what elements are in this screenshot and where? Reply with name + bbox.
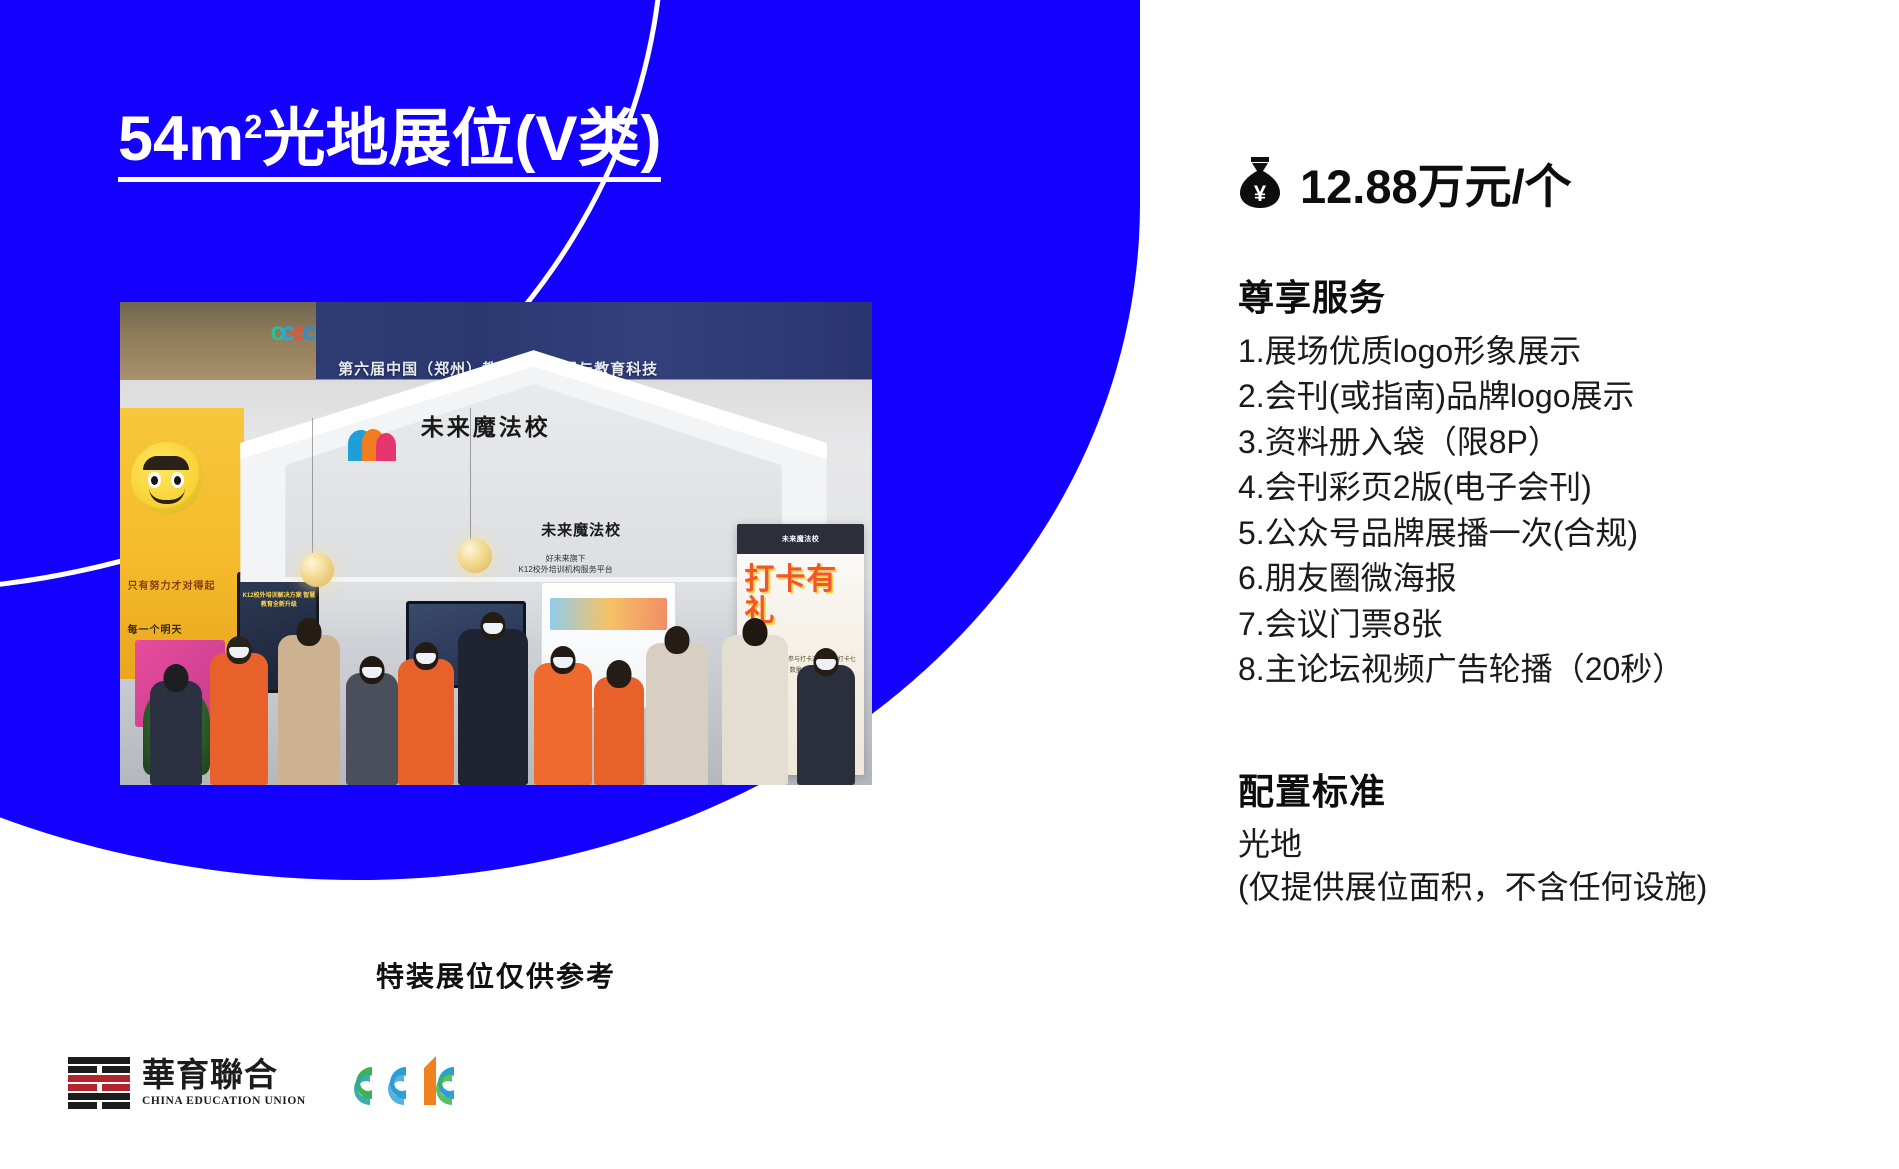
hall-banner-ccec-logo: ccec bbox=[270, 316, 312, 347]
future-magic-school-logo-icon bbox=[346, 428, 398, 462]
bee-mascot-icon bbox=[131, 442, 203, 514]
lantern-cord bbox=[470, 408, 471, 538]
visitor bbox=[278, 635, 340, 785]
page-title-wrap: 54m2光地展位(V类) bbox=[118, 104, 661, 182]
photo-caption: 特装展位仅供参考 bbox=[120, 955, 872, 995]
services-heading: 尊享服务 bbox=[1238, 269, 1858, 321]
config-block: 配置标准 光地 (仅提供展位面积，不含任何设施) bbox=[1238, 763, 1858, 909]
ceu-trigram-mark-icon bbox=[68, 1057, 130, 1109]
booth-photo-image: ccec 第六届中国（郑州）教育项目加盟与教育科技 只有努力才对得起 每一个明天… bbox=[120, 302, 872, 785]
visitor bbox=[646, 643, 708, 785]
config-line: (仅提供展位面积，不含任何设施) bbox=[1238, 866, 1858, 909]
booth-brand-name: 未来魔法校 bbox=[421, 408, 551, 442]
visitor bbox=[458, 629, 528, 785]
visitor bbox=[398, 659, 454, 785]
config-line: 光地 bbox=[1238, 823, 1858, 866]
service-item: 8.主论坛视频广告轮播（20秒） bbox=[1238, 647, 1858, 692]
ceu-logo-chinese: 華育聯合 bbox=[142, 1060, 306, 1093]
slide-root: 54m2光地展位(V类) ccec 第六届中国（郑州）教育项目加盟与教育科技 只… bbox=[0, 0, 1899, 1169]
footer-logos: 華育聯合 CHINA EDUCATION UNION bbox=[68, 1052, 478, 1114]
page-title: 54m2光地展位(V类) bbox=[118, 104, 661, 175]
service-item: 3.资料册入袋（限8P） bbox=[1238, 420, 1858, 465]
visitor bbox=[150, 681, 202, 785]
title-unit-superscript: 2 bbox=[244, 108, 262, 145]
service-item: 7.会议门票8张 bbox=[1238, 602, 1858, 647]
service-item: 6.朋友圈微海报 bbox=[1238, 556, 1858, 601]
title-unit: m bbox=[188, 104, 244, 174]
china-education-union-logo: 華育聯合 CHINA EDUCATION UNION bbox=[68, 1057, 306, 1109]
poster-header-text: 未来魔法校 bbox=[737, 524, 865, 554]
visitor bbox=[210, 653, 268, 785]
visitor bbox=[722, 635, 788, 785]
title-rest: 光地展位(V类) bbox=[262, 104, 661, 174]
right-content-column: ¥ 12.88万元/个 尊享服务 1.展场优质logo形象展示 2.会刊(或指南… bbox=[1238, 148, 1858, 909]
services-list: 1.展场优质logo形象展示 2.会刊(或指南)品牌logo展示 3.资料册入袋… bbox=[1238, 329, 1858, 693]
price-amount: 12.88万元/个 bbox=[1300, 148, 1572, 217]
visitor bbox=[594, 677, 644, 785]
visitor bbox=[346, 673, 398, 785]
service-item: 5.公众号品牌展播一次(合规) bbox=[1238, 511, 1858, 556]
title-underline bbox=[118, 177, 661, 182]
price-row: ¥ 12.88万元/个 bbox=[1238, 148, 1858, 217]
booth-tagline: 好未来旗下K12校外培训机构服务平台 bbox=[519, 553, 613, 575]
booth-brand-name-secondary: 未来魔法校 bbox=[541, 519, 621, 540]
lantern-cord bbox=[312, 418, 313, 553]
service-item: 1.展场优质logo形象展示 bbox=[1238, 329, 1858, 374]
money-bag-icon: ¥ bbox=[1238, 157, 1282, 209]
svg-text:¥: ¥ bbox=[1254, 181, 1267, 206]
ceu-logo-text: 華育聯合 CHINA EDUCATION UNION bbox=[142, 1060, 306, 1107]
ceu-logo-english: CHINA EDUCATION UNION bbox=[142, 1095, 306, 1107]
visitor bbox=[797, 665, 855, 785]
crowd-of-visitors bbox=[120, 582, 872, 785]
booth-photo: ccec 第六届中国（郑州）教育项目加盟与教育科技 只有努力才对得起 每一个明天… bbox=[120, 302, 872, 785]
ccec-logo-icon bbox=[336, 1052, 478, 1114]
service-item: 4.会刊彩页2版(电子会刊) bbox=[1238, 465, 1858, 510]
visitor bbox=[534, 663, 592, 785]
title-area-number: 54 bbox=[118, 104, 188, 174]
hanging-lantern bbox=[458, 539, 492, 573]
service-item: 2.会刊(或指南)品牌logo展示 bbox=[1238, 374, 1858, 419]
config-heading: 配置标准 bbox=[1238, 763, 1858, 815]
ccec-logo bbox=[336, 1052, 478, 1114]
